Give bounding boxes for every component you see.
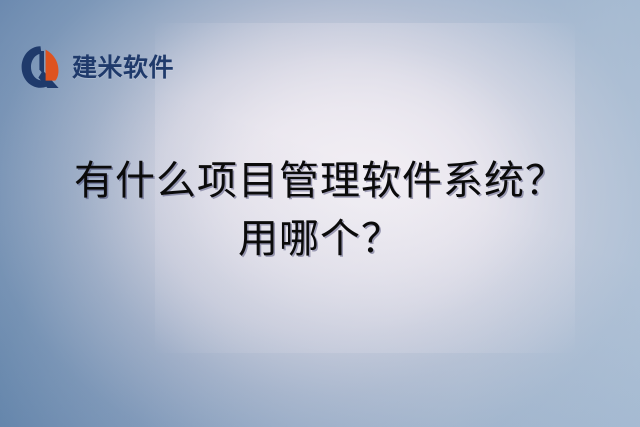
headline-line-1: 有什么项目管理软件系统？ [0,152,640,210]
headline-line-2: 用哪个？ [0,210,640,268]
brand-logo[interactable]: 建米软件 [20,45,174,89]
headline: 有什么项目管理软件系统？ 用哪个？ [0,152,640,268]
promo-banner: 建米软件 有什么项目管理软件系统？ 用哪个？ [0,0,640,427]
brand-name-text: 建米软件 [72,55,174,80]
jianmi-logo-mark-icon [20,45,66,89]
